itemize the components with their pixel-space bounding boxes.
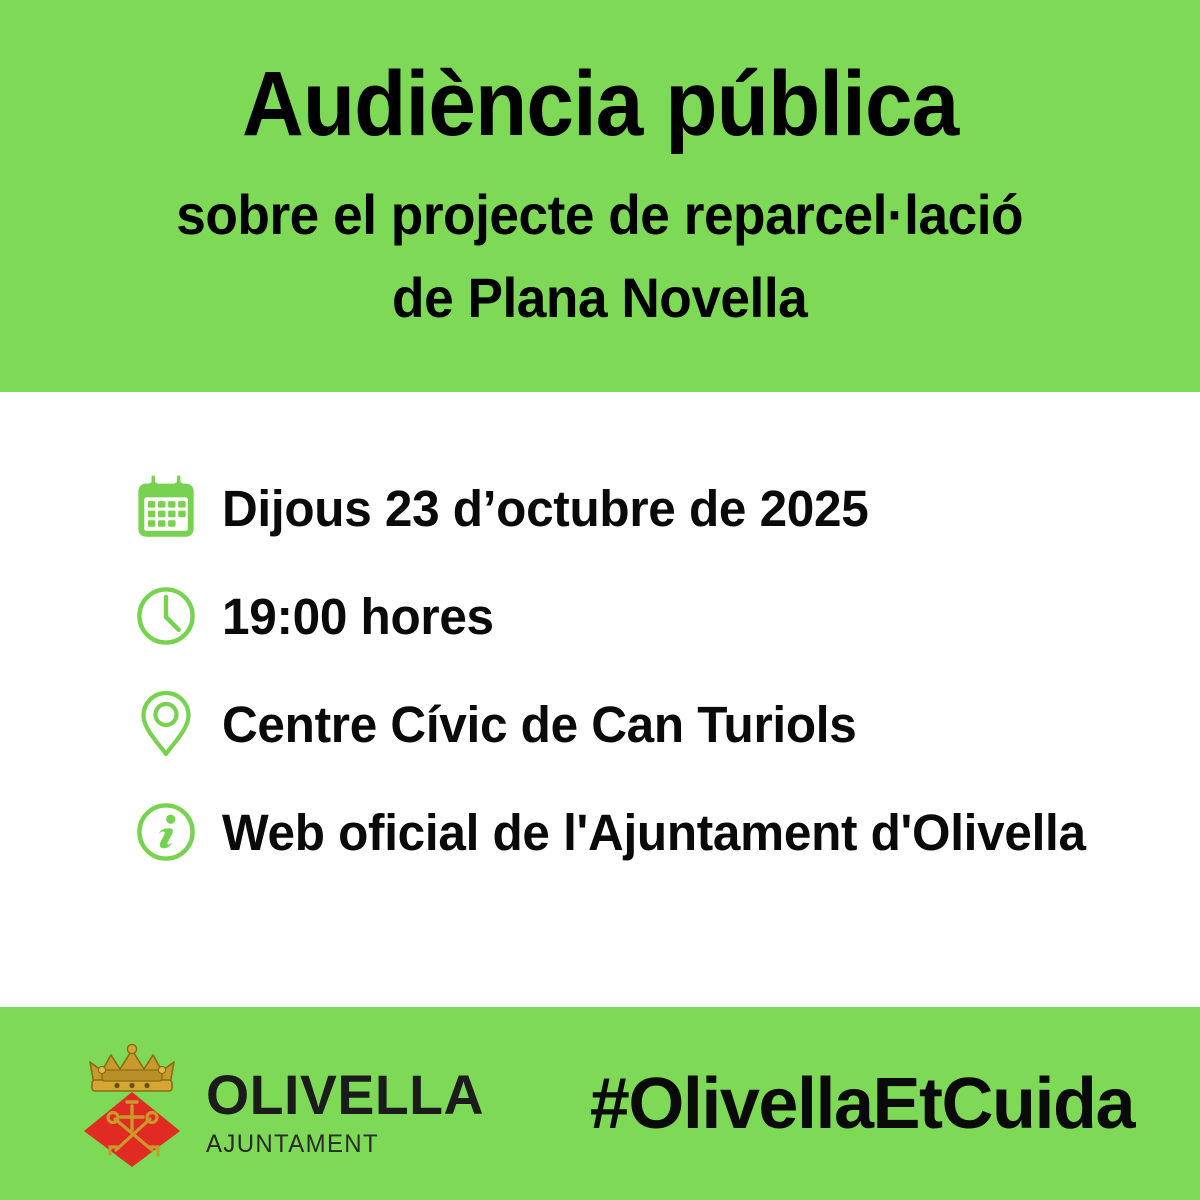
map-pin-icon [128,686,204,762]
list-item-location: Centre Cívic de Can Turiols [128,670,1200,778]
campaign-hashtag: #OlivellaEtCuida [590,1068,1144,1140]
info-icon [128,794,204,870]
clock-icon [128,578,204,654]
ajuntament-logo-lockup: OLIVELLA AJUNTAMENT [80,1040,487,1168]
olivella-coat-of-arms-icon [80,1040,184,1168]
brand-name-label: OLIVELLA [206,1067,484,1123]
page-subtitle-line-2: de Plana Novella [177,257,1024,340]
footer-banner: OLIVELLA AJUNTAMENT #OlivellaEtCuida [0,1007,1200,1200]
event-time-label: 19:00 hores [222,591,494,642]
brand-wordmark: OLIVELLA AJUNTAMENT [206,1051,487,1157]
event-info-label: Web oficial de l'Ajuntament d'Olivella [222,807,1086,858]
details-section: Dijous 23 d’octubre de 2025 19:00 hores [0,392,1200,1007]
header-banner: Audiència pública sobre el projecte de r… [0,0,1200,392]
event-location-label: Centre Cívic de Can Turiols [222,699,856,750]
list-item-date: Dijous 23 d’octubre de 2025 [128,454,1200,562]
brand-subtitle-label: AJUNTAMENT [206,1132,476,1157]
list-item-time: 19:00 hores [128,562,1200,670]
page-title: Audiència pública [242,58,958,150]
list-item-info: Web oficial de l'Ajuntament d'Olivella [128,778,1200,886]
page-subtitle: sobre el projecte de reparcel·lació de P… [177,174,1024,340]
poster-canvas: Audiència pública sobre el projecte de r… [0,0,1200,1200]
event-date-label: Dijous 23 d’octubre de 2025 [222,483,868,534]
event-details-list: Dijous 23 d’octubre de 2025 19:00 hores [0,454,1200,886]
page-subtitle-line-1: sobre el projecte de reparcel·lació [177,174,1024,257]
calendar-icon [128,470,204,546]
